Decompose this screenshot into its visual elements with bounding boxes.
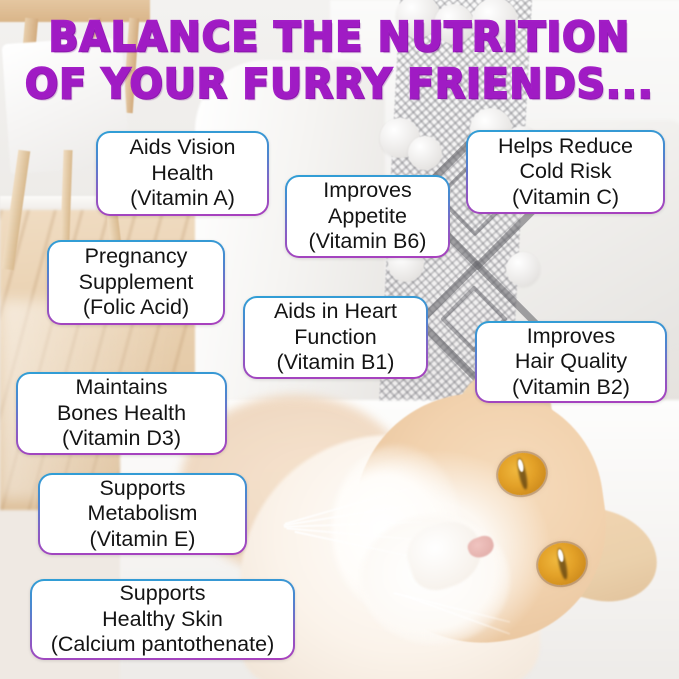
benefit-text: Improves Hair Quality (Vitamin B2) [477,324,665,401]
benefit-card-vitamin-a[interactable]: Aids Vision Health (Vitamin A) [96,131,269,216]
benefit-card-vitamin-b2[interactable]: Improves Hair Quality (Vitamin B2) [475,321,667,403]
benefit-card-vitamin-c[interactable]: Helps Reduce Cold Risk (Vitamin C) [466,130,665,214]
pom-pom [506,252,540,286]
benefit-text: Aids Vision Health (Vitamin A) [98,135,267,212]
benefit-card-vitamin-d3[interactable]: Maintains Bones Health (Vitamin D3) [16,372,227,455]
benefit-text: Aids in Heart Function (Vitamin B1) [245,299,426,376]
benefit-text: Supports Metabolism (Vitamin E) [40,476,245,553]
benefit-text: Helps Reduce Cold Risk (Vitamin C) [468,134,663,211]
benefit-text: Supports Healthy Skin (Calcium pantothen… [32,581,293,658]
benefit-text: Pregnancy Supplement (Folic Acid) [49,244,223,321]
benefit-text: Improves Appetite (Vitamin B6) [287,178,448,255]
benefit-card-vitamin-b6[interactable]: Improves Appetite (Vitamin B6) [285,175,450,258]
poster: BALANCE THE NUTRITION OF YOUR FURRY FRIE… [0,0,679,679]
benefit-card-calcium-pantothenate[interactable]: Supports Healthy Skin (Calcium pantothen… [30,579,295,660]
page-headline: BALANCE THE NUTRITION OF YOUR FURRY FRIE… [17,14,662,108]
benefit-card-vitamin-b1[interactable]: Aids in Heart Function (Vitamin B1) [243,296,428,379]
cat-illustration [240,375,679,679]
benefit-card-folic-acid[interactable]: Pregnancy Supplement (Folic Acid) [47,240,225,325]
benefit-card-vitamin-e[interactable]: Supports Metabolism (Vitamin E) [38,473,247,555]
benefit-text: Maintains Bones Health (Vitamin D3) [18,375,225,452]
pom-pom [408,136,442,170]
